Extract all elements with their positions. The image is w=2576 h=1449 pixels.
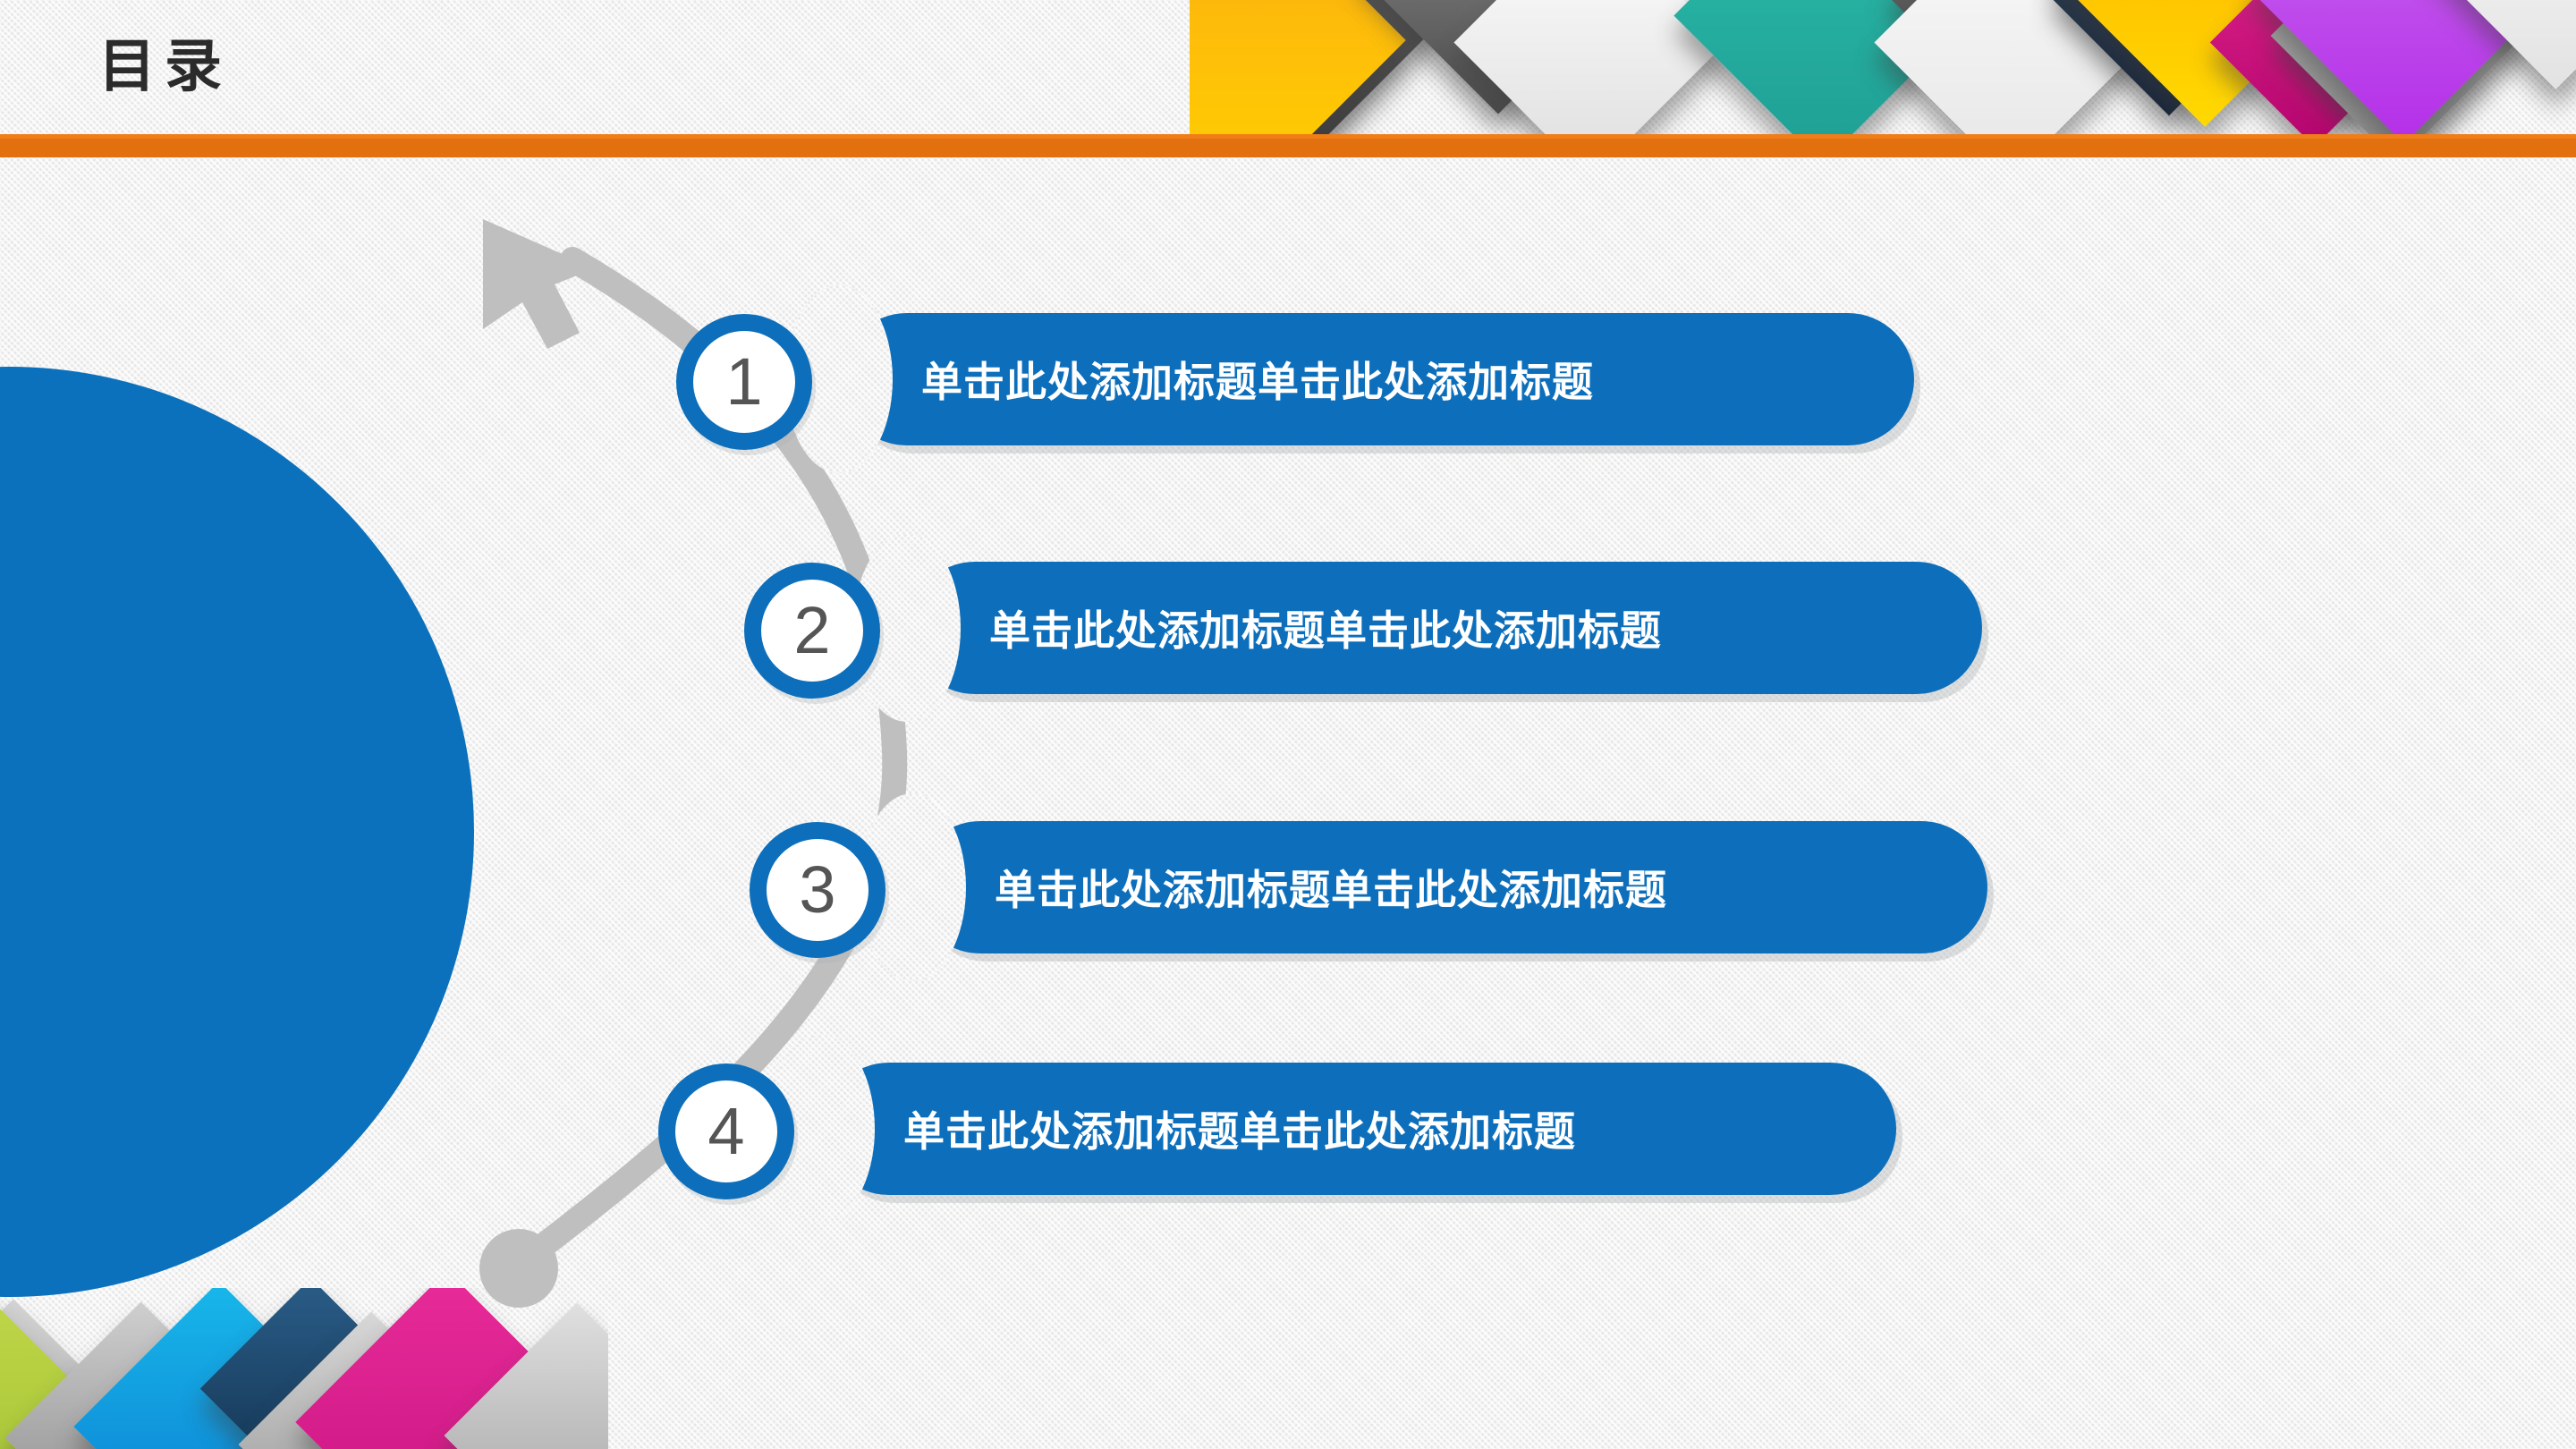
toc-number-circle-4[interactable]: 4 (658, 1063, 794, 1199)
toc-number-3: 3 (799, 857, 835, 923)
toc-bar-4[interactable]: 单击此处添加标题单击此处添加标题 (823, 1063, 1896, 1195)
slide-canvas: 目录 单击此处添加标题单击此处添加标题 1 单击此处添加标题单击此处添加标题 2… (0, 0, 2576, 1449)
toc-label-2: 单击此处添加标题单击此处添加标题 (909, 562, 1662, 694)
toc-number-4: 4 (708, 1098, 744, 1165)
toc-number-circle-3[interactable]: 3 (750, 822, 885, 958)
toc-bar-2[interactable]: 单击此处添加标题单击此处添加标题 (909, 562, 1982, 694)
toc-label-4: 单击此处添加标题单击此处添加标题 (823, 1063, 1576, 1195)
toc-number-1: 1 (725, 349, 762, 415)
toc-bar-1[interactable]: 单击此处添加标题单击此处添加标题 (841, 313, 1914, 445)
toc-number-circle-1[interactable]: 1 (676, 314, 812, 450)
curved-arrow-icon (0, 0, 2576, 1449)
toc-bar-3[interactable]: 单击此处添加标题单击此处添加标题 (914, 821, 1987, 953)
toc-label-1: 单击此处添加标题单击此处添加标题 (841, 313, 1594, 445)
toc-label-3: 单击此处添加标题单击此处添加标题 (914, 821, 1667, 953)
toc-number-circle-2[interactable]: 2 (744, 563, 880, 699)
bottom-decoration-shapes (0, 1288, 608, 1449)
toc-number-2: 2 (793, 597, 830, 664)
